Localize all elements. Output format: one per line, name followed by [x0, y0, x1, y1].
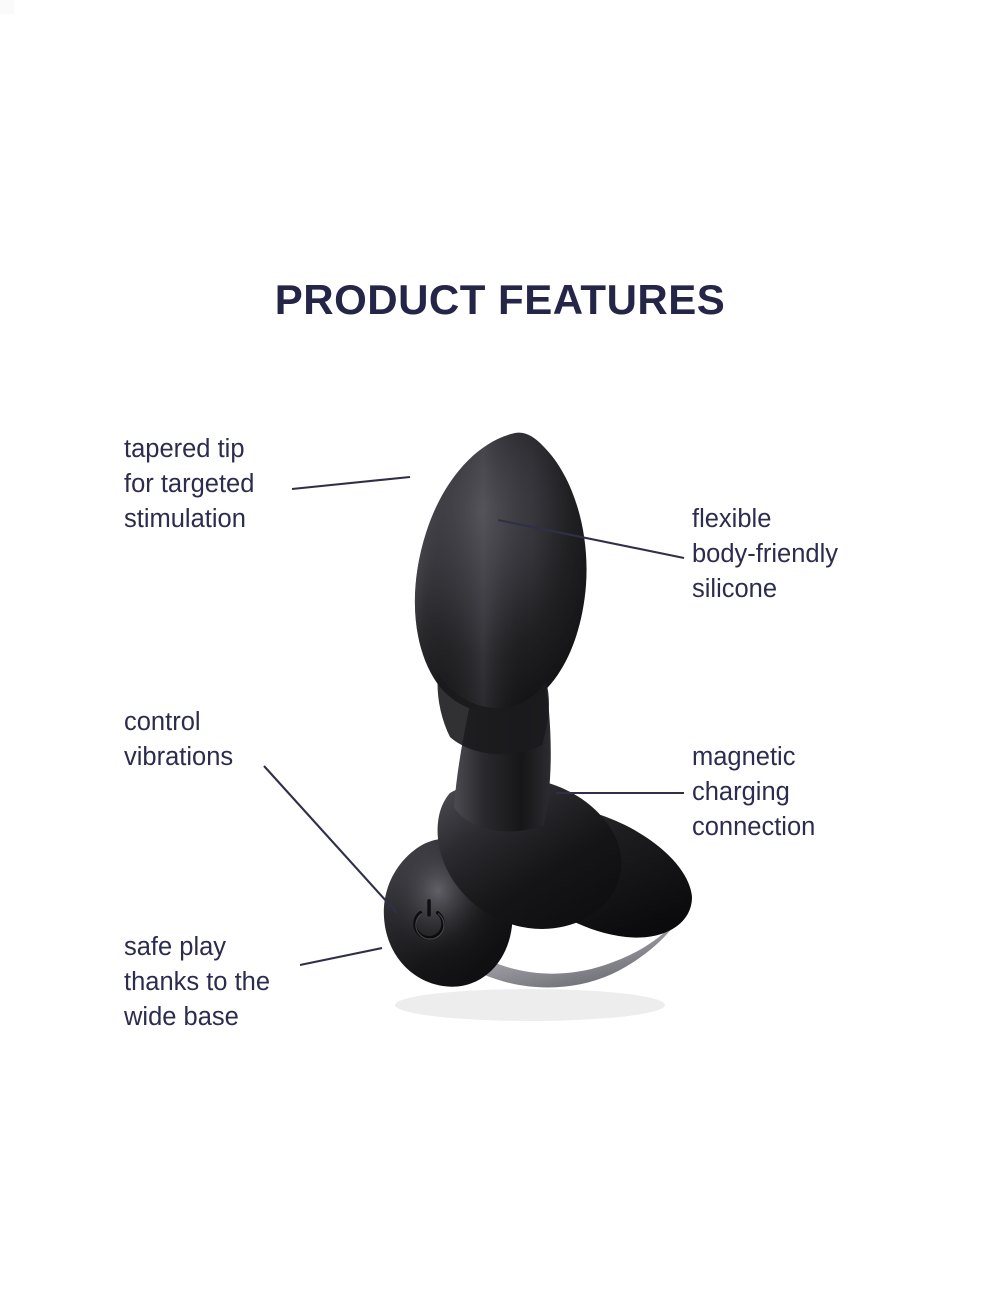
- callout-flexible-silicone: flexible body-friendly silicone: [692, 502, 838, 607]
- product-illustration: [330, 425, 700, 1025]
- callout-magnetic-charging: magnetic charging connection: [692, 740, 815, 845]
- page-title: PRODUCT FEATURES: [0, 276, 1000, 324]
- callout-tapered-tip: tapered tip for targeted stimulation: [124, 432, 254, 537]
- product-features-infographic: PRODUCT FEATURES: [0, 0, 1000, 1300]
- callout-control-vibrations: control vibrations: [124, 705, 233, 775]
- corner-artifact: [0, 0, 14, 14]
- callout-safe-play: safe play thanks to the wide base: [124, 930, 270, 1035]
